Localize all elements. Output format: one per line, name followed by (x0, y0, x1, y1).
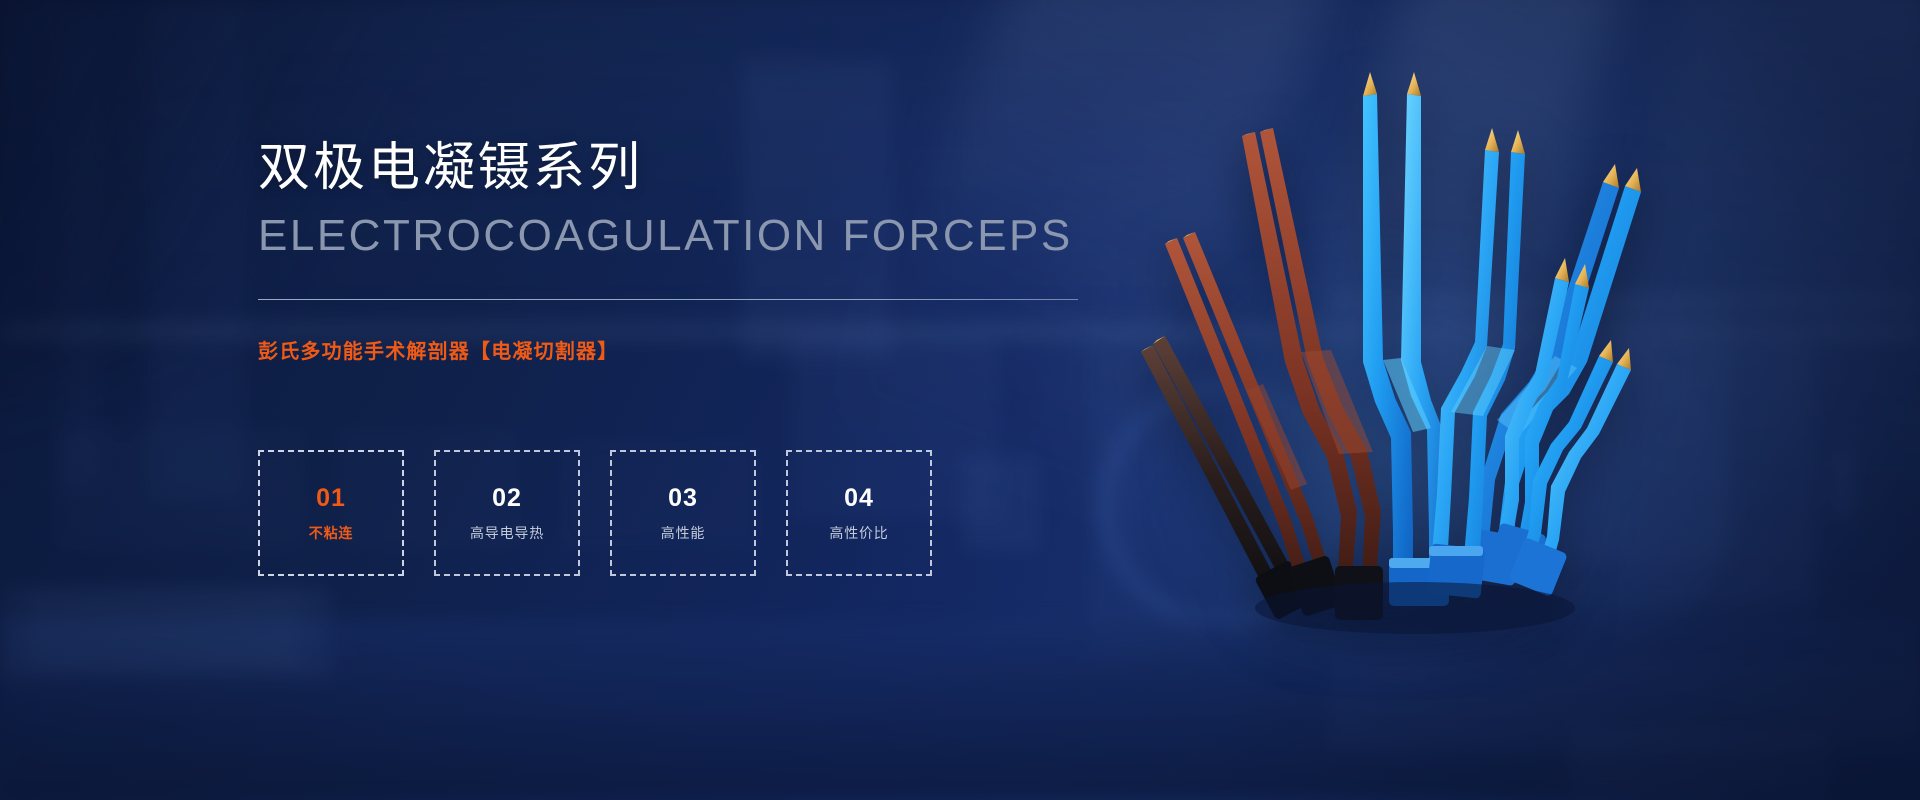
product-tagline: 彭氏多功能手术解剖器【电凝切割器】 (258, 335, 618, 364)
feature-item-01[interactable]: 01 不粘连 (258, 450, 404, 576)
title-divider (258, 299, 1078, 300)
page-subtitle-english: ELECTROCOAGULATION FORCEPS (258, 212, 1073, 260)
feature-label: 高导电导热 (470, 526, 544, 540)
feature-list: 01 不粘连 02 高导电导热 03 高性能 04 高性价比 (258, 450, 932, 576)
feature-label: 不粘连 (309, 526, 353, 540)
feature-label: 高性价比 (829, 526, 888, 540)
feature-number: 04 (844, 486, 874, 511)
feature-item-04[interactable]: 04 高性价比 (786, 450, 932, 576)
product-banner: 双极电凝镊系列 ELECTROCOAGULATION FORCEPS 彭氏多功能… (0, 0, 1920, 800)
feature-label: 高性能 (661, 526, 705, 540)
feature-number: 01 (316, 486, 346, 511)
forceps-product-image (1095, 60, 1655, 620)
page-title: 双极电凝镊系列 (258, 140, 643, 196)
feature-number: 03 (668, 486, 698, 511)
feature-number: 02 (492, 486, 522, 511)
feature-item-02[interactable]: 02 高导电导热 (434, 450, 580, 576)
banner-content: 双极电凝镊系列 ELECTROCOAGULATION FORCEPS 彭氏多功能… (258, 0, 958, 800)
feature-item-03[interactable]: 03 高性能 (610, 450, 756, 576)
